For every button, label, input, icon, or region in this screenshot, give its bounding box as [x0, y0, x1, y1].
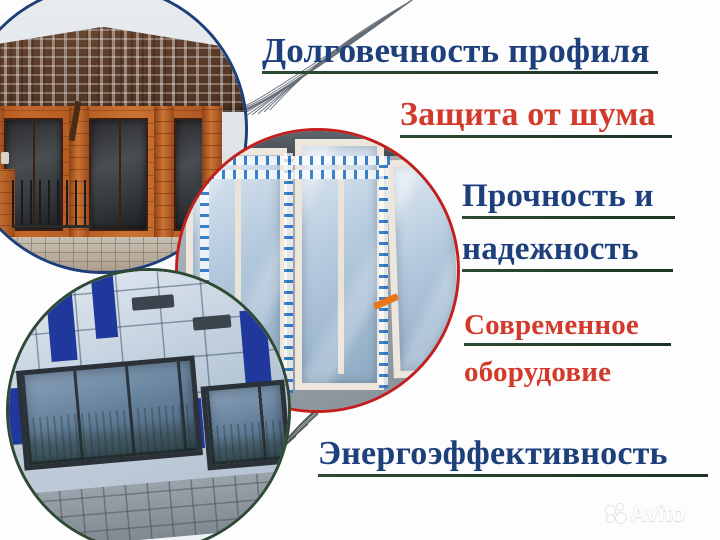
poster-canvas: Долговечность профиля Защита от шума Про…	[0, 0, 720, 540]
claim-equipment-text: оборудовие	[464, 358, 611, 387]
claim-underline	[262, 71, 658, 74]
avito-dots-icon	[606, 504, 626, 523]
claim-strength-text: Прочность и	[462, 180, 675, 213]
claim-noise-protection-text: Защита от шума	[400, 98, 672, 132]
claim-reliability: надежность	[462, 233, 673, 272]
avito-wordmark: Avito	[630, 500, 685, 527]
claim-equipment: оборудовие	[464, 358, 611, 387]
claims-list: Долговечность профиля Защита от шума Про…	[0, 0, 720, 540]
avito-watermark: Avito	[606, 500, 685, 527]
claim-durability-text: Долговечность профиля	[262, 33, 658, 68]
claim-underline	[318, 474, 708, 477]
claim-underline	[400, 135, 672, 138]
claim-reliability-text: надежность	[462, 233, 673, 266]
claim-modern-text: Современное	[464, 311, 671, 340]
claim-underline	[462, 269, 673, 272]
claim-noise-protection: Защита от шума	[400, 98, 672, 138]
claim-modern-equipment: Современное	[464, 311, 671, 346]
claim-strength: Прочность и	[462, 180, 675, 219]
claim-durability: Долговечность профиля	[262, 33, 658, 74]
claim-underline	[464, 343, 671, 346]
claim-energy-efficiency: Энергоэффективность	[318, 437, 708, 477]
claim-energy-efficiency-text: Энергоэффективность	[318, 437, 708, 471]
claim-underline	[462, 216, 675, 219]
